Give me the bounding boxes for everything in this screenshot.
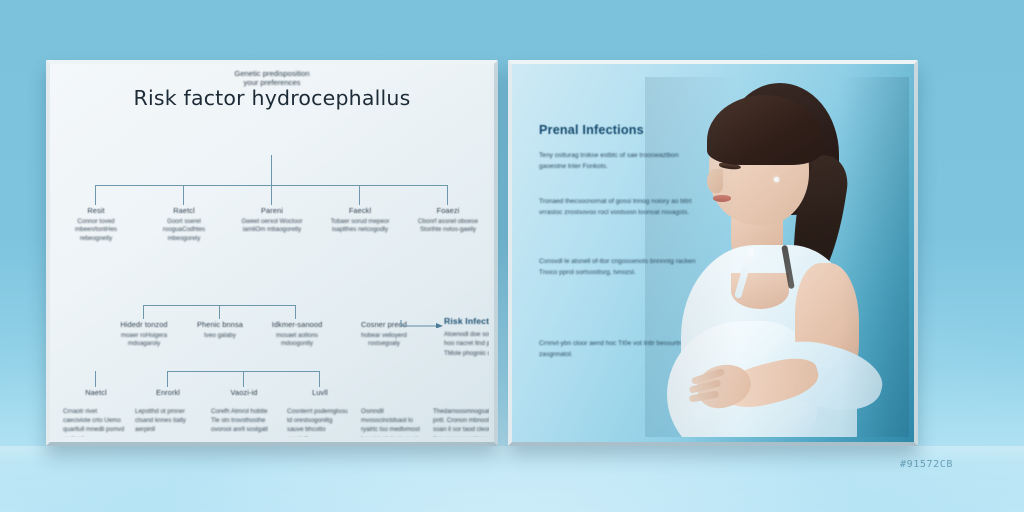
connector-tier2-drop	[295, 305, 296, 319]
nose	[707, 169, 723, 193]
tier3-body-text: Crnaotr rivet caeciviote crto Uemo quarl…	[63, 407, 125, 437]
tier3-extra-paragraph: Osmndll mvosscinctdsaol lo ryalrtc tso m…	[361, 407, 423, 437]
tier3-body-text: Corefh Atmrol hobtle Tle stn trovothosth…	[211, 407, 273, 435]
tier3-body-text: Lepstthd ot pmner ctsand knnes tiatly ae…	[135, 407, 197, 435]
tier3-body-text: Cosnterrt psdemglsou td orestsogoniltg s…	[287, 407, 349, 437]
prenal-infections-heading: Prenal Infections	[539, 123, 644, 137]
tree-root-line2: your preferences	[55, 78, 489, 87]
tree-root-node: Genetic predisposition your preferences	[55, 69, 489, 88]
connector-root-stem	[271, 155, 272, 185]
connector-tier2-drop	[219, 305, 220, 319]
node-text: moaer roHsigera mdoagaroly	[109, 332, 179, 349]
right-panel-content: Prenal Infections Teny ostturag trokse e…	[517, 69, 909, 437]
node-text: Connor toved mbeen/tontHes rebeognetly	[61, 218, 131, 244]
tree-node-tier3: Naetcl	[61, 389, 131, 397]
page-title: Risk factor hydrocephallus	[55, 86, 489, 110]
node-label: Enrorkl	[133, 389, 203, 397]
earring	[774, 177, 779, 182]
node-label: Raetcl	[149, 207, 219, 215]
node-label: Foaezi	[413, 207, 483, 215]
connector-tier1-drop	[271, 185, 272, 205]
node-label: Idkmer-sanood	[261, 321, 333, 329]
tree-node-tier3: Enrorkl	[133, 389, 203, 397]
node-text: Tobaer sorud mepeor isaplthes netcogodly	[325, 218, 395, 235]
watermark-id: #91572CB	[900, 459, 953, 470]
risk-infections-body: Atoenodl doe sosi tnertos orgorenst hoo …	[444, 330, 489, 358]
node-text: Cbonrf assnel oboese Storihte nvtos-gaei…	[413, 218, 483, 235]
tier3-extra-paragraph: ThedarnoosmnogsaI Trvothsrng pntt. Crono…	[433, 407, 489, 437]
arrow-right-icon	[400, 319, 444, 328]
connector-tier1-drop	[183, 185, 184, 205]
connector-tier1-drop	[359, 185, 360, 205]
tree-root-line1: Genetic predisposition	[55, 69, 489, 78]
risk-infections-heading: Risk Infections	[444, 316, 489, 326]
infographic-scene: Risk factor hydrocephallus Genetic predi…	[0, 0, 1024, 512]
risk-infections-callout: Risk Infections Atoenodl doe sosi tnerto…	[444, 316, 489, 358]
right-photo-panel: Prenal Infections Teny ostturag trokse e…	[508, 60, 918, 446]
tree-node-tier3: Luvll	[285, 389, 355, 397]
node-text: Gweet oerxol Woctoor iamliOm mbaogoretly	[237, 218, 307, 235]
lips	[713, 195, 731, 202]
node-text: tveo galaby	[185, 332, 255, 341]
node-text: mosaet aotlons mdoogontly	[261, 332, 333, 349]
floor-reflection	[0, 446, 1024, 512]
tree-node-tier3: Vaozi-id	[209, 389, 279, 397]
pregnant-woman-photo	[645, 77, 909, 437]
node-label: Phenic bnnsa	[185, 321, 255, 329]
tree-node-tier2: Hidedr tonzod moaer roHsigera mdoagaroly	[109, 321, 179, 349]
tree-node-tier2: Idkmer-sanood mosaet aotlons mdoogontly	[261, 321, 333, 349]
tree-node-tier1: Pareni Gweet oerxol Woctoor iamliOm mbao…	[237, 207, 307, 235]
connector-tier3-drop	[167, 371, 168, 387]
connector-tier1-drop	[95, 185, 96, 205]
tree-node-tier1: Resit Connor toved mbeen/tontHes rebeogn…	[61, 207, 131, 243]
node-label: Hidedr tonzod	[109, 321, 179, 329]
tree-node-tier2: Phenic bnnsa tveo galaby	[185, 321, 255, 340]
tree-node-tier1: Raetcl Goort sserel rooguaCodhtes mbeogo…	[149, 207, 219, 243]
tree-node-tier1: Faeckl Tobaer sorud mepeor isaplthes net…	[325, 207, 395, 235]
left-diagram-panel: Risk factor hydrocephallus Genetic predi…	[46, 60, 498, 446]
connector-tier3-drop	[95, 371, 96, 387]
node-text: hobear veiloyerd rostsegoaly	[349, 332, 419, 349]
node-label: Faeckl	[325, 207, 395, 215]
node-label: Vaozi-id	[209, 389, 279, 397]
connector-tier2-drop	[143, 305, 144, 319]
node-label: Resit	[61, 207, 131, 215]
node-text: Goort sserel rooguaCodhtes mbeogorety	[149, 218, 219, 244]
connector-tier1-drop	[447, 185, 448, 205]
connector-tier3-drop	[319, 371, 320, 387]
tree-node-tier1: Foaezi Cbonrf assnel oboese Storihte nvt…	[413, 207, 483, 235]
node-label: Naetcl	[61, 389, 131, 397]
connector-tier3-drop	[243, 371, 244, 387]
left-panel-content: Risk factor hydrocephallus Genetic predi…	[55, 69, 489, 437]
node-label: Luvll	[285, 389, 355, 397]
node-label: Pareni	[237, 207, 307, 215]
